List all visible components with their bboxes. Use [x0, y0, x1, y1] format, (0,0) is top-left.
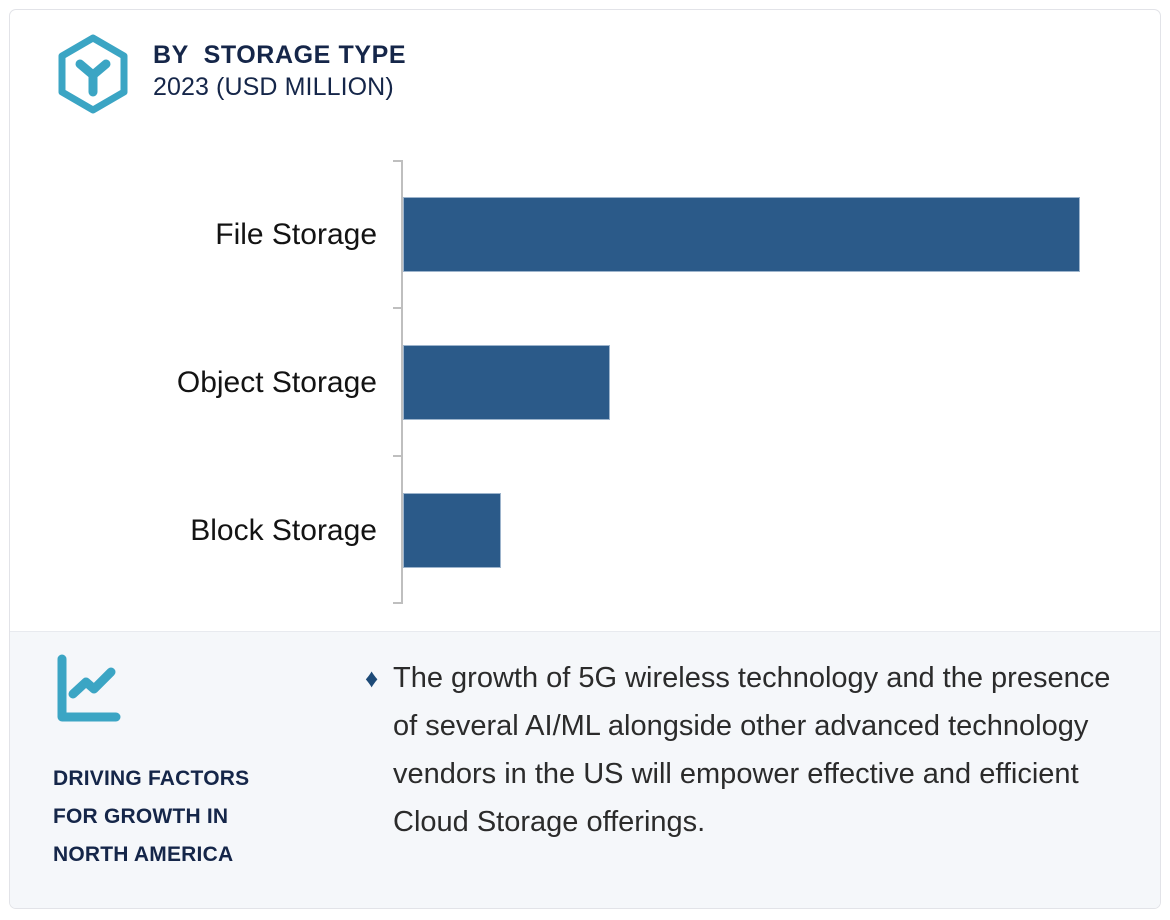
- header-text-block: BY STORAGE TYPE 2023 (USD MILLION): [153, 40, 406, 104]
- bar-object-storage: [403, 345, 610, 420]
- bar-chart: File Storage Object Storage Block Storag…: [10, 150, 1161, 630]
- driving-factors-right: ♦ The growth of 5G wireless technology a…: [365, 654, 1125, 846]
- storage-type-infographic-card: BY STORAGE TYPE 2023 (USD MILLION) File …: [0, 0, 1170, 920]
- axis-tick: [393, 307, 403, 309]
- bar-row: Object Storage: [10, 345, 1161, 420]
- line-chart-icon: [53, 654, 353, 726]
- page-title: BY STORAGE TYPE: [153, 40, 406, 70]
- bar-category-label: Object Storage: [177, 345, 377, 420]
- card-frame: BY STORAGE TYPE 2023 (USD MILLION) File …: [9, 9, 1161, 909]
- bar-category-label: Block Storage: [190, 493, 377, 568]
- driving-factors-heading: DRIVING FACTORS FOR GROWTH IN NORTH AMER…: [53, 760, 353, 874]
- bar-row: Block Storage: [10, 493, 1161, 568]
- axis-tick: [393, 455, 403, 457]
- bar-row: File Storage: [10, 197, 1161, 272]
- diamond-bullet-icon: ♦: [365, 654, 393, 702]
- axis-tick: [393, 602, 403, 604]
- driving-factors-left: DRIVING FACTORS FOR GROWTH IN NORTH AMER…: [53, 654, 353, 874]
- bar-file-storage: [403, 197, 1080, 272]
- axis-tick: [393, 160, 403, 162]
- driving-factors-text: The growth of 5G wireless technology and…: [393, 654, 1125, 846]
- driving-factors-panel: DRIVING FACTORS FOR GROWTH IN NORTH AMER…: [10, 631, 1161, 909]
- card-header: BY STORAGE TYPE 2023 (USD MILLION): [10, 10, 1160, 150]
- bar-category-label: File Storage: [215, 197, 377, 272]
- page-subtitle: 2023 (USD MILLION): [153, 70, 406, 104]
- hexagon-y-icon: [53, 34, 133, 114]
- bar-block-storage: [403, 493, 501, 568]
